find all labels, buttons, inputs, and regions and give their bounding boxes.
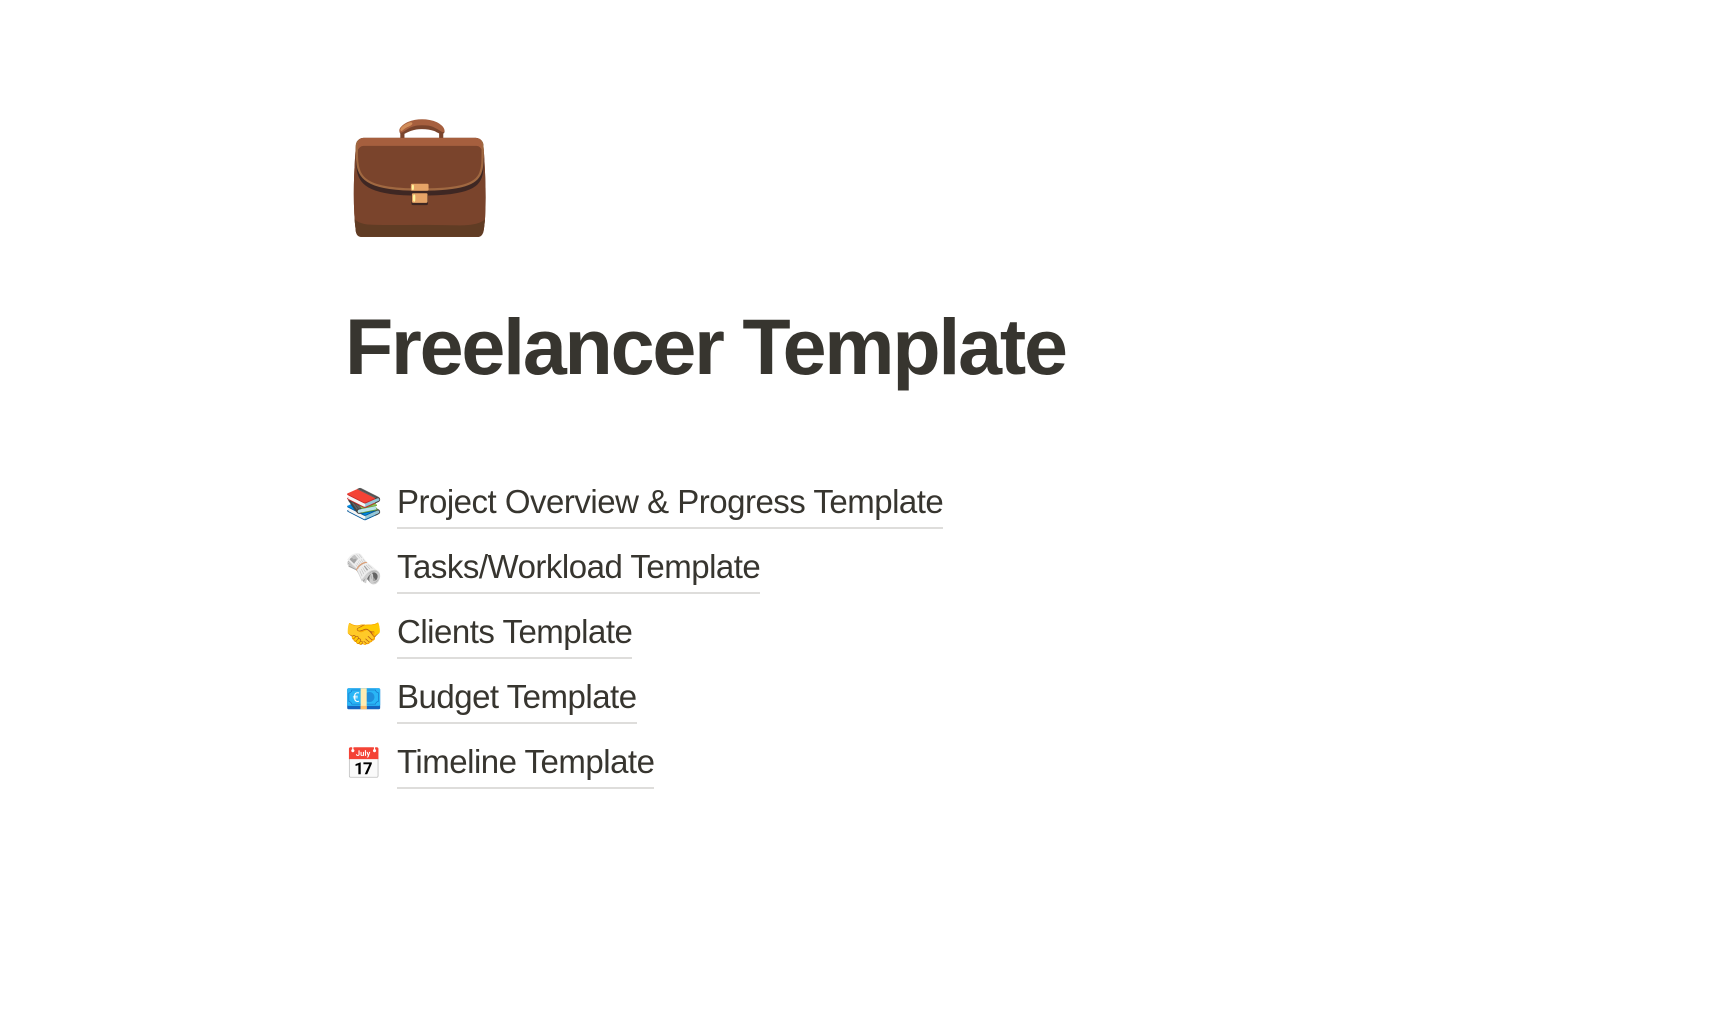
briefcase-emoji[interactable]: 💼 <box>345 112 495 252</box>
list-item: 💶 Budget Template <box>345 678 1545 723</box>
content-column: 💼 Freelancer Template 📚 Project Overview… <box>345 0 1545 808</box>
euro-banknote-emoji: 💶 <box>345 681 383 719</box>
link-tasks-workload-template[interactable]: Tasks/Workload Template <box>397 546 760 594</box>
list-item: 🤝 Clients Template <box>345 613 1545 658</box>
link-clients-template[interactable]: Clients Template <box>397 611 632 659</box>
link-budget-template[interactable]: Budget Template <box>397 676 637 724</box>
books-emoji: 📚 <box>345 486 383 524</box>
document-page: 💼 Freelancer Template 📚 Project Overview… <box>0 0 1734 1024</box>
handshake-emoji: 🤝 <box>345 616 383 654</box>
list-item: 🗞️ Tasks/Workload Template <box>345 548 1545 593</box>
page-title[interactable]: Freelancer Template <box>345 304 1545 391</box>
template-link-list: 📚 Project Overview & Progress Template 🗞… <box>345 483 1545 788</box>
calendar-emoji: 📅 <box>345 746 383 784</box>
page-with-curl-emoji: 🗞️ <box>345 551 383 589</box>
list-item: 📅 Timeline Template <box>345 743 1545 788</box>
link-timeline-template[interactable]: Timeline Template <box>397 741 654 789</box>
list-item: 📚 Project Overview & Progress Template <box>345 483 1545 528</box>
link-project-overview-progress-template[interactable]: Project Overview & Progress Template <box>397 481 943 529</box>
